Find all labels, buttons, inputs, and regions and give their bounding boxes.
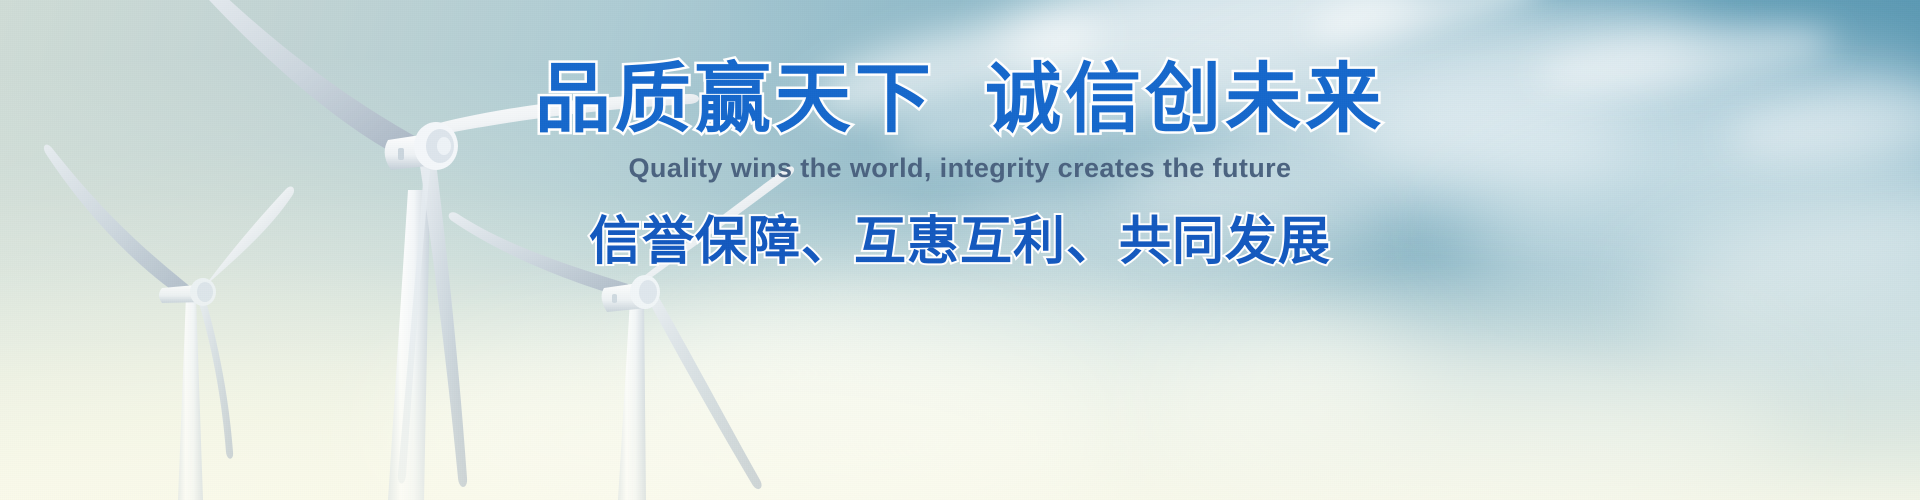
atmospheric-veil (0, 190, 1920, 500)
hero-banner: 品质赢天下 诚信创未来 Quality wins the world, inte… (0, 0, 1920, 500)
